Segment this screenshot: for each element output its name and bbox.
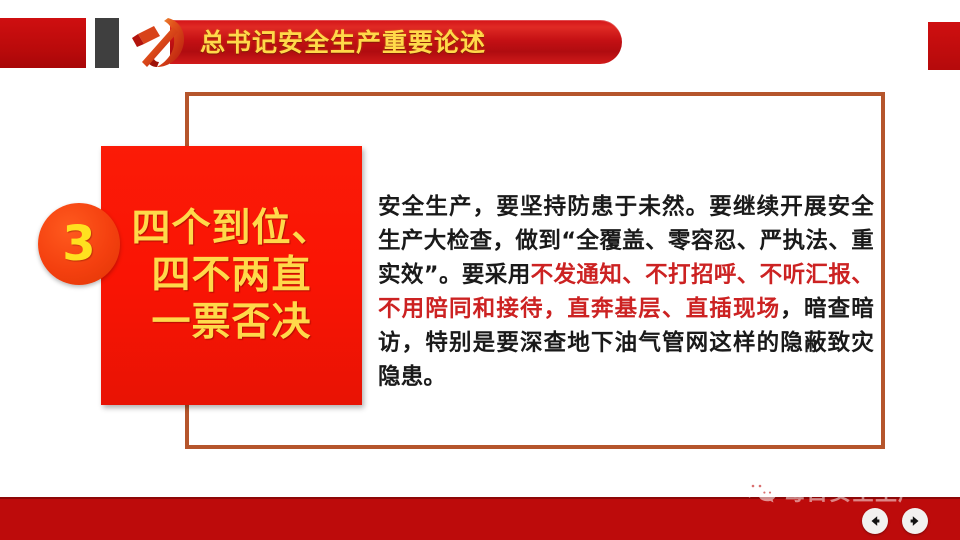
next-slide-button[interactable] [902, 508, 928, 534]
footer-red-bar [0, 497, 960, 540]
section-number-badge: 3 [38, 203, 120, 285]
section-number-text: 3 [62, 220, 95, 268]
body-paragraph: 安全生产，要坚持防患于未然。要继续开展安全生产大检查，做到“全覆盖、零容忍、严执… [378, 190, 874, 394]
callout-line-1: 四个到位、 [131, 205, 331, 252]
callout-line-3: 一票否决 [151, 299, 311, 346]
prev-slide-button[interactable] [862, 508, 888, 534]
callout-line-2: 四不两直 [151, 252, 311, 299]
header-gray-bar [95, 18, 119, 68]
arrow-left-icon [868, 514, 882, 528]
header-right-red-block [928, 22, 960, 70]
header-left-red-block [0, 18, 86, 68]
callout-red-box: 四个到位、 四不两直 一票否决 [101, 146, 362, 405]
header-banner-title: 总书记安全生产重要论述 [200, 26, 600, 60]
arrow-right-icon [908, 514, 922, 528]
party-hammer-sickle-emblem-icon [126, 10, 194, 76]
slide-canvas: 总书记安全生产重要论述 四个到位、 四不两直 一票否决 3 安全生产，要坚持防患… [0, 0, 960, 540]
navigation-buttons [862, 508, 928, 534]
